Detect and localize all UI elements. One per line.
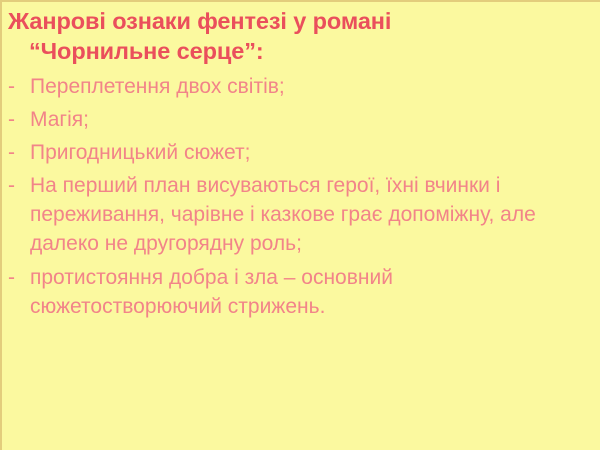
slide-canvas: Жанрові ознаки фентезі у романі “Чорниль… [0, 0, 600, 450]
list-item-text: Магія; [30, 105, 550, 134]
list-item: - протистояння добра і зла – основний сю… [6, 263, 596, 321]
dash-bullet-icon: - [6, 138, 30, 167]
page-title: Жанрові ознаки фентезі у романі “Чорниль… [2, 2, 600, 66]
bullet-list: - Переплетення двох світів; - Магія; - П… [2, 66, 600, 321]
title-line-1: Жанрові ознаки фентезі у романі [8, 6, 594, 36]
list-item-text: Переплетення двох світів; [30, 72, 550, 101]
list-item-text: протистояння добра і зла – основний сюже… [30, 263, 542, 321]
list-item: - Переплетення двох світів; [6, 72, 596, 101]
list-item: - Пригодницький сюжет; [6, 138, 596, 167]
list-item-text: Пригодницький сюжет; [30, 138, 550, 167]
dash-bullet-icon: - [6, 171, 30, 200]
dash-bullet-icon: - [6, 72, 30, 101]
list-item: - Магія; [6, 105, 596, 134]
title-line-2: “Чорнильне серце”: [8, 36, 594, 66]
list-item-text: На перший план висуваються герої, їхні в… [30, 171, 542, 258]
dash-bullet-icon: - [6, 263, 30, 292]
dash-bullet-icon: - [6, 105, 30, 134]
list-item: - На перший план висуваються герої, їхні… [6, 171, 596, 258]
